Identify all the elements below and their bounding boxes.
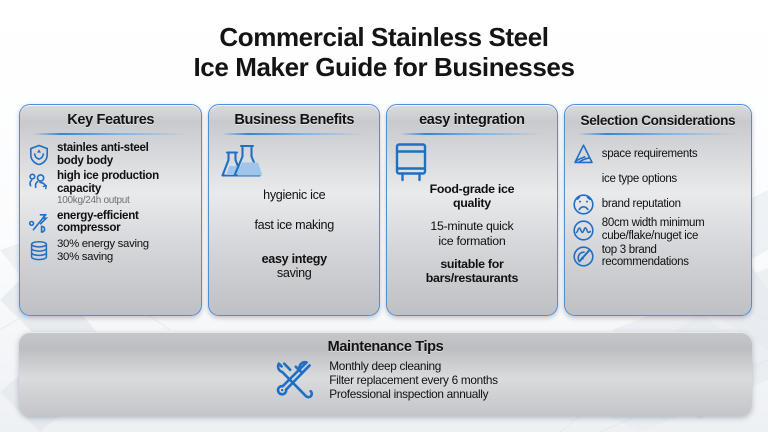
card-divider (400, 133, 544, 135)
person-activity-icon (27, 171, 51, 195)
integration-line: 15-minute quick (394, 219, 550, 233)
consideration-text: brand reputation (602, 198, 744, 211)
consideration-row: space requirements (572, 142, 744, 166)
consideration-text: 80cm width minimum cube/flake/nuget ice (602, 217, 744, 243)
benefit-line: saving (216, 266, 372, 280)
integration-line: Food-grade ice (394, 182, 550, 196)
card-divider (33, 133, 188, 135)
consideration-main: top 3 brand (602, 244, 744, 257)
face-reputation-icon (572, 193, 595, 216)
feature-text: stainles anti-steel body body (57, 142, 194, 167)
card-body: hygienic ice fast ice making easy integy… (216, 142, 372, 280)
integration-line: ice formation (394, 234, 550, 248)
feature-main2: compressor (57, 222, 194, 235)
card-title: Business Benefits (216, 112, 372, 129)
card-divider (222, 133, 366, 135)
page-title: Commercial Stainless Steel Ice Maker Gui… (0, 22, 768, 82)
feature-main: high ice production (57, 170, 194, 183)
card-business-benefits[interactable]: Business Benefits hygienic ice fast ice … (208, 104, 380, 316)
feature-sub: 100kg/24h output (57, 195, 194, 207)
integration-line: bars/restaurants (394, 271, 550, 285)
card-title: Key Features (27, 112, 194, 129)
consideration-main2: recommendations (602, 256, 744, 269)
feature-row: high ice production capacity 100kg/24h o… (27, 170, 194, 207)
maintenance-tips-panel[interactable]: Maintenance Tips Monthly deep cleaning F… (19, 332, 752, 416)
consideration-text: top 3 brand recommendations (602, 244, 744, 270)
card-title: Selection Considerations (572, 112, 744, 129)
card-easy-integration[interactable]: easy integration Food-grade ice quality … (386, 104, 558, 316)
flasks-icon (216, 142, 372, 184)
consideration-row: top 3 brand recommendations (572, 244, 744, 270)
maintenance-body: Monthly deep cleaning Filter replacement… (19, 359, 752, 402)
feature-main: stainles anti-steel (57, 142, 194, 155)
integration-line: suitable for (394, 257, 550, 271)
database-stack-icon (27, 239, 51, 263)
consideration-main: brand reputation (602, 198, 744, 211)
cards-row: Key Features stainles anti-steel body bo… (19, 104, 752, 316)
consideration-text: ice type options (602, 173, 744, 186)
feature-text: energy-efficient compressor (57, 210, 194, 235)
feature-text: 30% energy saving 30% saving (57, 238, 194, 264)
card-divider (578, 133, 738, 135)
maintenance-line: Filter replacement every 6 months (329, 373, 497, 387)
card-key-features[interactable]: Key Features stainles anti-steel body bo… (19, 104, 202, 316)
consideration-row: 80cm width minimum cube/flake/nuget ice (572, 217, 744, 243)
consideration-text: space requirements (602, 148, 744, 161)
benefit-line: fast ice making (216, 218, 372, 232)
consideration-row: ice type options (572, 167, 744, 191)
title-line-1: Commercial Stainless Steel (219, 22, 548, 52)
card-body: Food-grade ice quality 15-minute quick i… (394, 142, 550, 285)
feature-main2: capacity (57, 183, 194, 196)
consideration-main: 80cm width minimum (602, 217, 744, 230)
ice-machine-icon (394, 142, 550, 182)
feature-row: energy-efficient compressor (27, 210, 194, 235)
integration-line: quality (394, 196, 550, 210)
consideration-main: ice type options (602, 173, 744, 186)
spacer-icon (572, 168, 595, 191)
benefit-line: easy integy (216, 252, 372, 266)
energy-percent-icon (27, 211, 51, 235)
maintenance-title: Maintenance Tips (19, 332, 752, 355)
feature-row: 30% energy saving 30% saving (27, 238, 194, 264)
feature-plain-2: 30% saving (57, 251, 194, 264)
card-title: easy integration (394, 112, 550, 129)
maintenance-line: Monthly deep cleaning (329, 359, 497, 373)
benefit-line: hygienic ice (216, 188, 372, 202)
tools-wrench-screwdriver-icon (273, 359, 317, 401)
title-line-2: Ice Maker Guide for Businesses (0, 52, 768, 82)
consideration-main: space requirements (602, 148, 744, 161)
consideration-row: brand reputation (572, 192, 744, 216)
feature-main2: body body (57, 155, 194, 168)
maintenance-lines: Monthly deep cleaning Filter replacement… (329, 359, 497, 402)
gauge-circle-icon (572, 245, 595, 268)
maintenance-line: Professional inspection annually (329, 387, 497, 401)
shield-check-icon (27, 143, 51, 167)
feature-plain-1: 30% energy saving (57, 238, 194, 251)
cone-space-icon (572, 143, 595, 166)
feature-row: stainles anti-steel body body (27, 142, 194, 167)
card-selection-considerations[interactable]: Selection Considerations space requireme… (564, 104, 752, 316)
feature-text: high ice production capacity 100kg/24h o… (57, 170, 194, 207)
wave-circle-icon (572, 219, 595, 242)
consideration-main2: cube/flake/nuget ice (602, 230, 744, 243)
